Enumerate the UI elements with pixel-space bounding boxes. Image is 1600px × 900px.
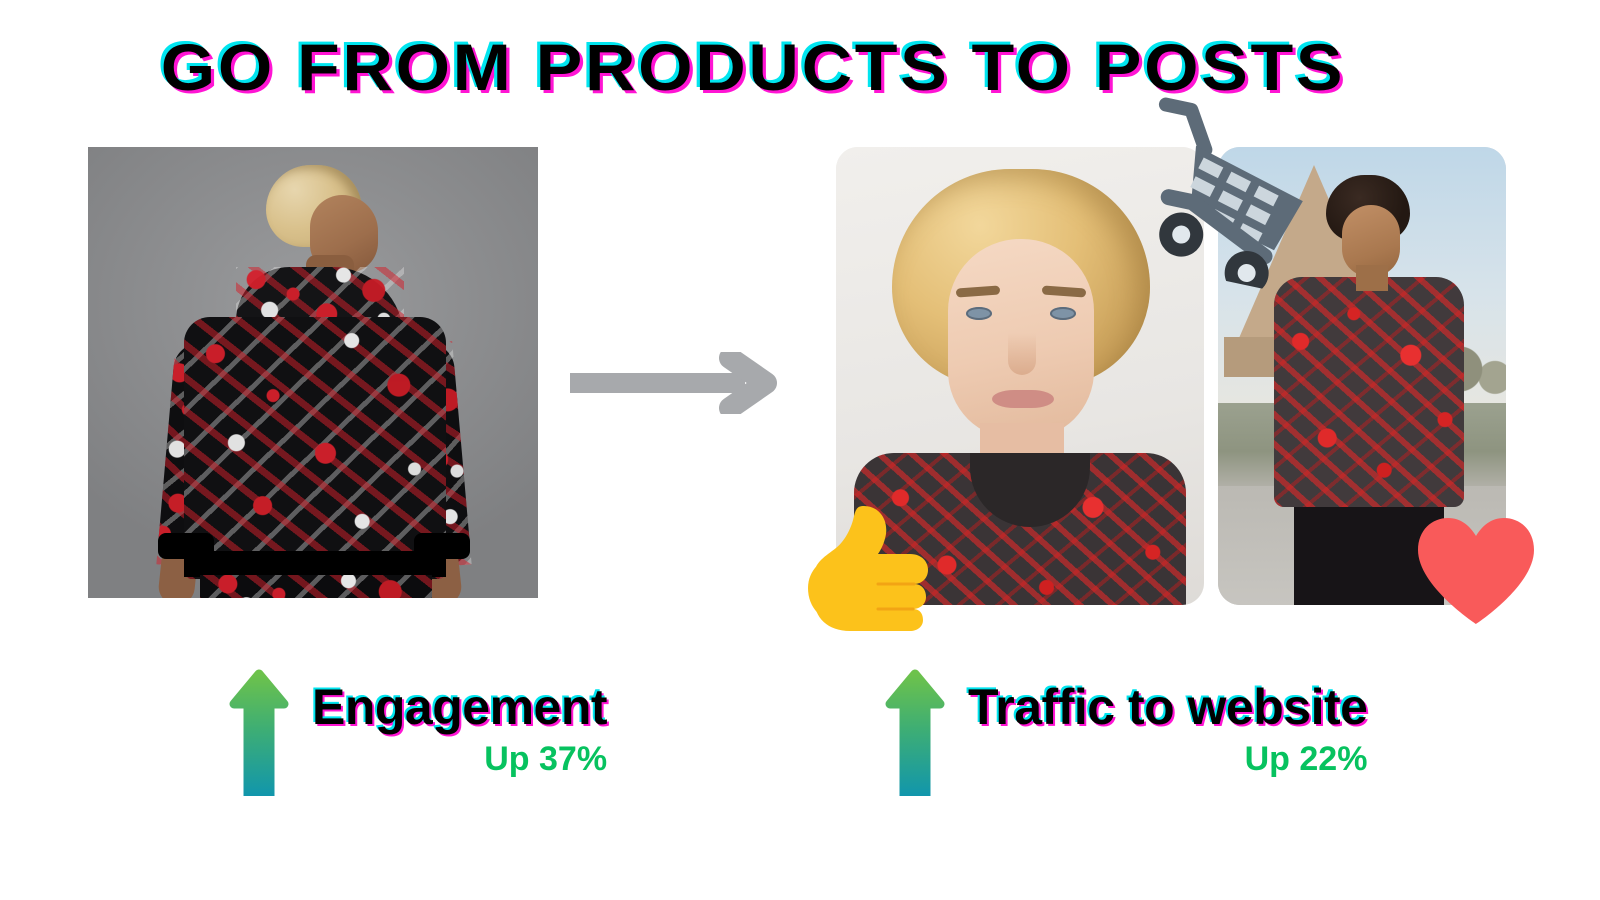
portrait-left-eye <box>966 307 992 320</box>
slide-canvas: GO FROM PRODUCTS TO POSTS <box>0 0 1600 900</box>
metric-text-block: Traffic to website Up 22% <box>968 668 1367 776</box>
right-arrow-icon <box>570 352 808 414</box>
thumbs-up-icon <box>792 498 932 638</box>
metric-traffic-to-website: Traffic to website Up 22% <box>884 668 1367 796</box>
hoodie-body <box>184 317 446 579</box>
lifestyle-neck <box>1356 265 1388 291</box>
metric-text-block: Engagement Up 37% <box>312 668 607 776</box>
up-arrow-icon <box>884 668 946 796</box>
portrait-right-eye <box>1050 307 1076 320</box>
product-photo <box>88 147 538 598</box>
joggers <box>200 575 432 598</box>
portrait-mouth <box>992 390 1054 408</box>
hoodie-hem <box>184 551 446 577</box>
metric-label: Traffic to website <box>968 682 1367 732</box>
page-title: GO FROM PRODUCTS TO POSTS <box>0 34 1551 100</box>
portrait-nose <box>1008 333 1036 375</box>
lifestyle-hoodie <box>1274 277 1464 507</box>
metric-label: Engagement <box>312 682 607 732</box>
up-arrow-icon <box>228 668 290 796</box>
metric-delta: Up 22% <box>968 742 1367 776</box>
metric-delta: Up 37% <box>312 742 607 776</box>
heart-icon <box>1414 514 1538 628</box>
metric-engagement: Engagement Up 37% <box>228 668 607 796</box>
